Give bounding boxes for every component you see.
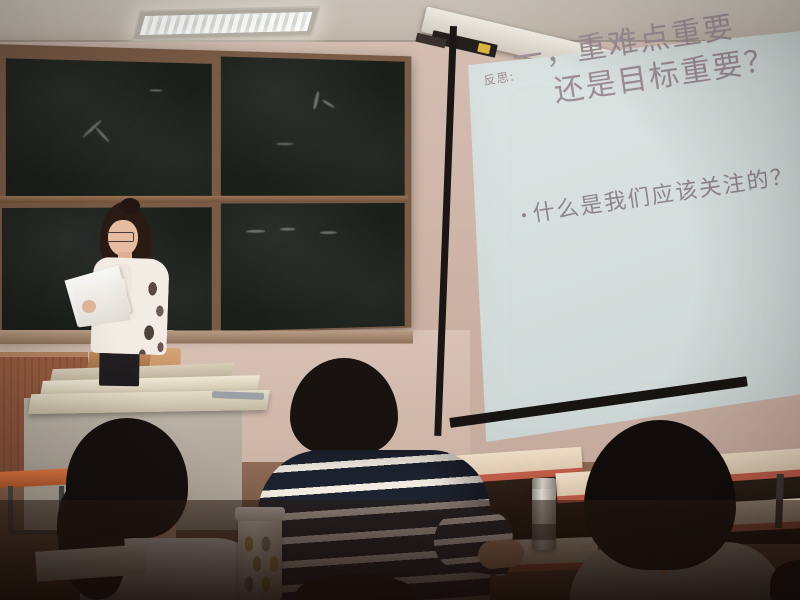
presenter: [78, 196, 188, 386]
chalkboard: [0, 44, 411, 340]
classroom-scene: 反思: 一，重难点重要 还是目标重要？ •什么是我们应该关注的？: [0, 0, 800, 600]
projection-screen: [452, 30, 800, 442]
thermos-cap: [532, 478, 556, 489]
presenter-hand: [82, 300, 96, 313]
chalkboard-panel-top-left: [6, 58, 212, 198]
ceiling-light-fixture: [131, 6, 321, 41]
chalkboard-track-rail: [0, 196, 408, 203]
presenter-hair-tie: [120, 198, 140, 214]
fluorescent-louver-grille: [140, 12, 313, 35]
foreground-shadow: [0, 500, 800, 600]
student-center-hair: [290, 358, 398, 454]
chalk-tray: [0, 330, 413, 344]
chalkboard-panel-top-right: [221, 56, 405, 197]
chalkboard-panel-bottom-right: [221, 203, 405, 331]
glasses-icon: [106, 232, 134, 242]
